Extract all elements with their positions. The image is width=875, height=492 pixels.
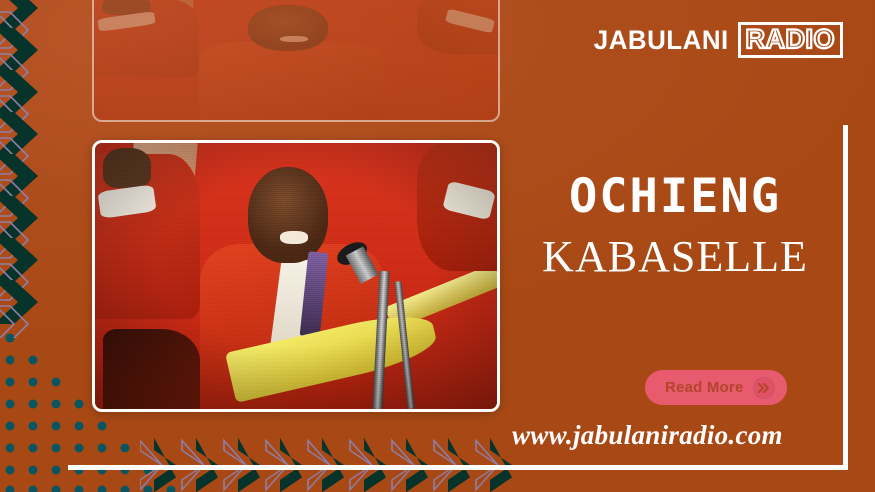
jabulani-radio-logo[interactable]: JABULANI RADIO xyxy=(591,22,843,58)
frame-horizontal-rule xyxy=(68,465,848,470)
top-photo-scene xyxy=(94,0,498,120)
logo-word-jabulani: JABULANI xyxy=(594,25,729,56)
top-faded-photo xyxy=(92,0,500,122)
page-subtitle: KABASELLE xyxy=(500,231,850,282)
website-url[interactable]: www.jabulaniradio.com xyxy=(512,420,783,451)
read-more-label: Read More xyxy=(665,379,744,396)
main-photo-scene xyxy=(95,143,497,409)
main-photo-image xyxy=(95,143,497,409)
logo-word-radio: RADIO xyxy=(738,22,844,58)
read-more-button[interactable]: Read More xyxy=(645,370,787,405)
promo-banner: JABULANI RADIO OCHIENG KABASELLE Read Mo… xyxy=(0,0,875,492)
double-chevron-right-icon xyxy=(753,377,775,399)
page-title: OCHIENG xyxy=(500,172,850,221)
headline-block: OCHIENG KABASELLE xyxy=(500,172,850,282)
top-faded-photo-image xyxy=(94,0,498,120)
chevron-right-row xyxy=(140,434,560,492)
main-photo xyxy=(92,140,500,412)
chevron-right-column xyxy=(0,0,54,338)
